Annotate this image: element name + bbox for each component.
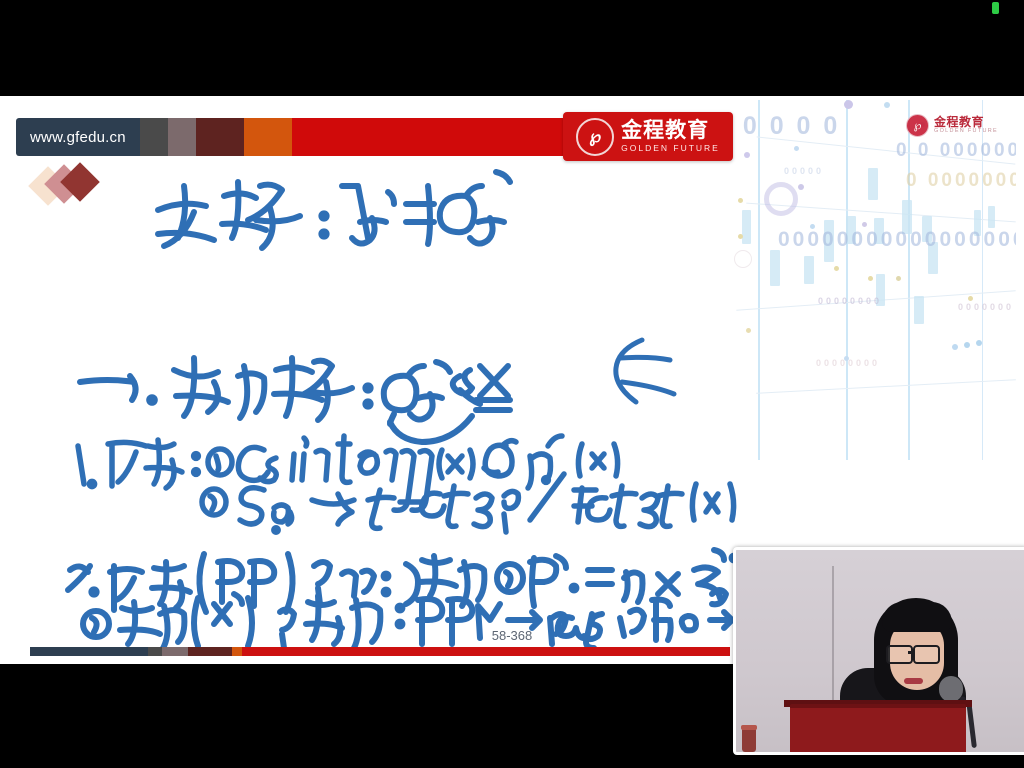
- corner-brand-logo: ℘ 金程教育 GOLDEN FUTURE: [906, 114, 998, 137]
- header-swatch-1: [140, 118, 168, 156]
- diamond-decoration: [34, 166, 110, 206]
- corner-seal-icon: ℘: [906, 114, 929, 137]
- wall-seam: [832, 566, 834, 716]
- handwriting-arrow: [616, 340, 674, 402]
- digital-zero-pattern: 0 0 0 0 0 0 0 0000000 0 0000000 00000000…: [716, 100, 1016, 460]
- footer-swatch-4: [188, 647, 232, 656]
- glasses-bridge-icon: [908, 651, 914, 654]
- screen: 0 0 0 0 0 0 0 0000000 0 0000000 00000000…: [0, 0, 1024, 768]
- footer-swatch-5: [232, 647, 242, 656]
- handwriting-line-2: [80, 358, 510, 442]
- footer-color-bar: [30, 647, 730, 656]
- glasses-left-lens-icon: [886, 645, 913, 664]
- microphone-head-icon: [939, 676, 963, 702]
- handwriting-line-3: [78, 436, 618, 510]
- header-swatch-3: [196, 118, 244, 156]
- lecturer-lips: [904, 678, 923, 684]
- handwriting-line-1: [158, 172, 510, 248]
- corner-brand-name-cn: 金程教育: [934, 116, 998, 128]
- slide-header-bar: www.gfedu.cn: [16, 118, 622, 156]
- video-stage[interactable]: 0 0 0 0 0 0 0 0000000 0 0000000 00000000…: [0, 96, 1024, 664]
- footer-swatch-3: [162, 647, 188, 656]
- cup: [742, 728, 756, 752]
- footer-swatch-2: [148, 647, 162, 656]
- footer-swatch-1: [30, 647, 148, 656]
- podium: [790, 704, 966, 755]
- handwriting-line-5: [68, 550, 736, 612]
- corner-brand-name-en: GOLDEN FUTURE: [934, 129, 998, 135]
- brand-logo: ℘ 金程教育 GOLDEN FUTURE: [563, 112, 733, 161]
- handwriting-line-4: [202, 474, 734, 532]
- brand-name-en: GOLDEN FUTURE: [621, 144, 720, 153]
- brand-seal-icon: ℘: [576, 118, 614, 156]
- lecturer-webcam-overlay[interactable]: [733, 547, 1024, 755]
- cup-lid: [741, 725, 757, 730]
- footer-swatch-6: [242, 647, 730, 656]
- brand-name-cn: 金程教育: [621, 120, 720, 141]
- header-swatch-2: [168, 118, 196, 156]
- lecturer-fringe: [882, 602, 952, 632]
- site-url: www.gfedu.cn: [16, 118, 140, 156]
- letterbox-top: [0, 0, 1024, 96]
- glasses-right-lens-icon: [913, 645, 940, 664]
- header-swatch-4: [244, 118, 292, 156]
- recording-indicator-icon: [992, 2, 999, 14]
